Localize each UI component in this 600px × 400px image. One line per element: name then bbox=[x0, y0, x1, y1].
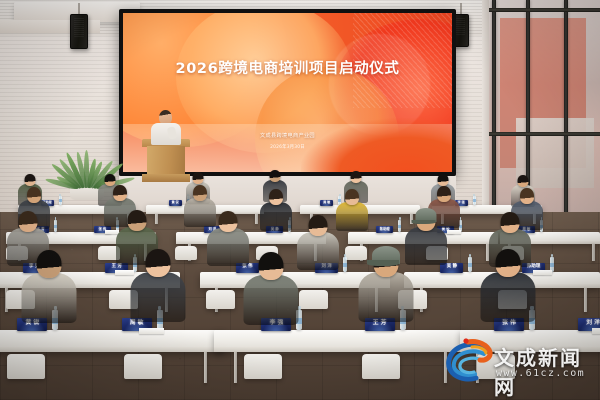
chair bbox=[124, 354, 162, 379]
person-head bbox=[496, 249, 521, 277]
placard-name: 陈助理 bbox=[376, 228, 393, 231]
person-torso bbox=[481, 272, 536, 322]
slide-title: 2026跨境电商培训项目启动仪式 bbox=[123, 57, 452, 78]
chair bbox=[7, 354, 45, 379]
audience-person bbox=[297, 215, 339, 274]
ceiling-speaker-icon bbox=[70, 3, 88, 49]
audience-person bbox=[358, 249, 413, 327]
table-leg bbox=[584, 288, 587, 312]
lectern bbox=[142, 139, 190, 183]
placard-name: 黄 锐 bbox=[169, 201, 182, 204]
person-head bbox=[438, 174, 449, 186]
person-head bbox=[345, 189, 359, 205]
person-torso bbox=[130, 272, 185, 322]
person-head bbox=[27, 187, 41, 203]
person-head bbox=[269, 189, 283, 205]
table-leg bbox=[592, 244, 595, 261]
notebook bbox=[447, 230, 461, 234]
table-leg bbox=[204, 352, 207, 383]
placard-name: 刘 洋 bbox=[578, 321, 600, 327]
person-head bbox=[351, 171, 362, 183]
water-bottle bbox=[59, 196, 62, 205]
person-head bbox=[24, 174, 35, 186]
person-head bbox=[520, 188, 534, 204]
person-torso bbox=[21, 273, 76, 323]
name-placard: 周 敏 bbox=[320, 200, 333, 206]
name-placard: 黄 锐 bbox=[169, 200, 182, 206]
audience-person bbox=[336, 189, 368, 234]
water-bottle bbox=[54, 220, 57, 232]
name-placard: 陈助理 bbox=[376, 226, 393, 233]
training-table bbox=[460, 330, 600, 352]
chair bbox=[206, 290, 235, 309]
person-head bbox=[518, 175, 529, 187]
person-head bbox=[127, 210, 146, 231]
chair bbox=[299, 290, 328, 309]
water-bottle bbox=[343, 257, 347, 272]
water-bottle bbox=[473, 196, 476, 205]
training-table bbox=[214, 330, 464, 352]
chair bbox=[244, 354, 282, 379]
presenter-person bbox=[148, 110, 184, 144]
person-head bbox=[308, 215, 327, 236]
person-torso bbox=[243, 275, 298, 325]
person-torso bbox=[336, 202, 368, 231]
chair bbox=[477, 354, 515, 379]
notebook bbox=[139, 328, 164, 334]
table-leg bbox=[255, 214, 258, 224]
person-torso bbox=[358, 272, 413, 322]
audience-person bbox=[243, 252, 298, 330]
notebook bbox=[533, 270, 552, 275]
baseball-cap bbox=[415, 208, 436, 222]
person-head bbox=[269, 170, 280, 182]
audience-person bbox=[21, 250, 76, 328]
audience-person bbox=[130, 249, 185, 327]
person-head bbox=[437, 186, 451, 202]
person-head bbox=[36, 250, 61, 278]
person-head bbox=[113, 185, 127, 201]
person-head bbox=[193, 185, 207, 201]
person-head bbox=[258, 252, 283, 280]
water-bottle bbox=[468, 257, 472, 272]
person-head bbox=[145, 249, 170, 277]
person-head bbox=[18, 211, 37, 232]
person-torso bbox=[260, 202, 292, 231]
notebook bbox=[592, 328, 600, 334]
person-torso bbox=[297, 232, 339, 270]
baseball-cap bbox=[372, 246, 400, 264]
chair bbox=[362, 354, 400, 379]
person-head bbox=[192, 172, 203, 184]
table-leg bbox=[444, 352, 447, 383]
training-table bbox=[0, 330, 224, 352]
placard-name: 周 敏 bbox=[320, 201, 333, 204]
person-head bbox=[218, 211, 237, 232]
audience-person bbox=[260, 189, 292, 234]
conference-room-photo: 2026跨境电商培训项目启动仪式 文成县跨境电商产业园 2026年3月30日 陈… bbox=[0, 0, 600, 400]
water-bottle bbox=[398, 220, 401, 232]
table-leg bbox=[234, 352, 237, 383]
audience-person bbox=[481, 249, 536, 327]
person-head bbox=[501, 212, 520, 233]
